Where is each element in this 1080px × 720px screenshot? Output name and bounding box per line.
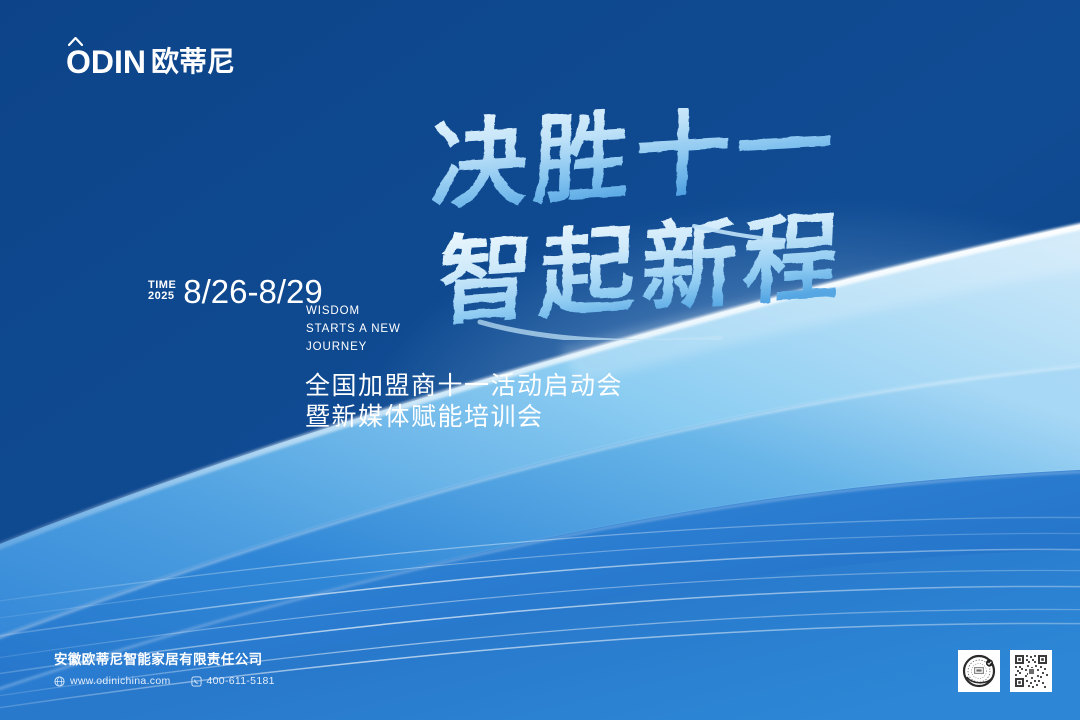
event-subtitle: 全国加盟商十一活动启动会 暨新媒体赋能培训会 <box>305 370 623 432</box>
headline-line-2: 智起新程 <box>435 200 847 339</box>
footer: 安徽欧蒂尼智能家居有限责任公司 www.odinichina.com 400-6… <box>54 651 275 687</box>
brand-logo[interactable]: ODIN 欧蒂尼 <box>66 46 235 78</box>
tagline-line-1: WISDOM <box>306 302 401 320</box>
website-text: www.odinichina.com <box>70 675 171 687</box>
poster-canvas: ODIN 欧蒂尼 <box>0 0 1080 720</box>
english-tagline: WISDOM STARTS A NEW JOURNEY <box>306 302 401 356</box>
date-label: TIME 2025 <box>148 276 176 302</box>
headline-calligraphy: 决胜十一 智起新程 <box>432 108 902 340</box>
globe-icon <box>54 676 65 687</box>
event-date: TIME 2025 8/26-8/29 <box>148 276 323 308</box>
qr-code-group <box>958 650 1052 692</box>
logo-wordmark-text: DIN <box>91 44 146 80</box>
subtitle-line-2: 暨新媒体赋能培训会 <box>305 401 623 432</box>
tagline-line-3: JOURNEY <box>306 338 401 356</box>
tagline-line-2: STARTS A NEW <box>306 320 401 338</box>
phone-icon <box>191 676 202 687</box>
logo-initial-o: O <box>66 46 91 78</box>
website-item[interactable]: www.odinichina.com <box>54 675 171 687</box>
phone-item[interactable]: 400-611-5181 <box>191 675 275 687</box>
qr-code[interactable] <box>1010 650 1052 692</box>
phone-text: 400-611-5181 <box>207 675 275 687</box>
wechat-official-badge[interactable] <box>958 650 1000 692</box>
logo-wordmark: ODIN <box>66 46 146 78</box>
date-range: 8/26-8/29 <box>183 276 322 308</box>
contact-row: www.odinichina.com 400-611-5181 <box>54 675 275 687</box>
date-label-year: 2025 <box>148 291 176 302</box>
company-name: 安徽欧蒂尼智能家居有限责任公司 <box>54 651 275 669</box>
subtitle-line-1: 全国加盟商十一活动启动会 <box>305 370 623 401</box>
logo-chinese-name: 欧蒂尼 <box>151 48 235 76</box>
